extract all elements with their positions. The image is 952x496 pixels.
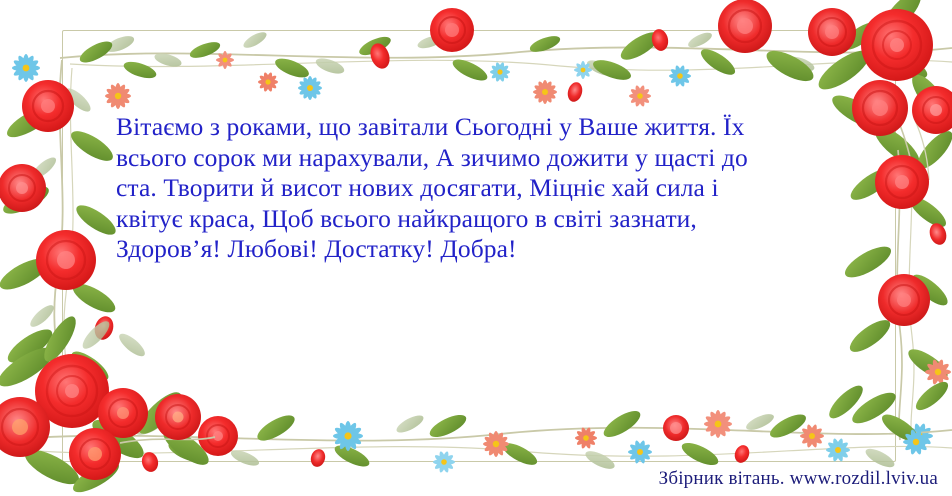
daisy-blue [907, 423, 933, 450]
top-border-vine [0, 0, 952, 120]
left-border-vine [0, 60, 120, 390]
daisy-blue [12, 54, 40, 82]
daisy-blue [333, 421, 929, 473]
greeting-message: Вітаємо з роками, що завітали Сьогодні у… [116, 112, 776, 265]
daisy-blue [298, 61, 691, 100]
rose-flower [430, 0, 772, 53]
rose-bud [367, 28, 670, 104]
daisy-coral [483, 410, 824, 457]
daisy-coral [925, 359, 951, 386]
corner-roses-bottom-left [0, 321, 215, 496]
daisy-coral [105, 51, 651, 109]
corner-roses-top-right [802, 0, 952, 180]
greeting-card: Вітаємо з роками, що завітали Сьогодні у… [0, 0, 952, 496]
watermark-credit: Збірник вітань. www.rozdil.lviv.ua [659, 468, 938, 490]
right-border-vine [842, 150, 952, 440]
